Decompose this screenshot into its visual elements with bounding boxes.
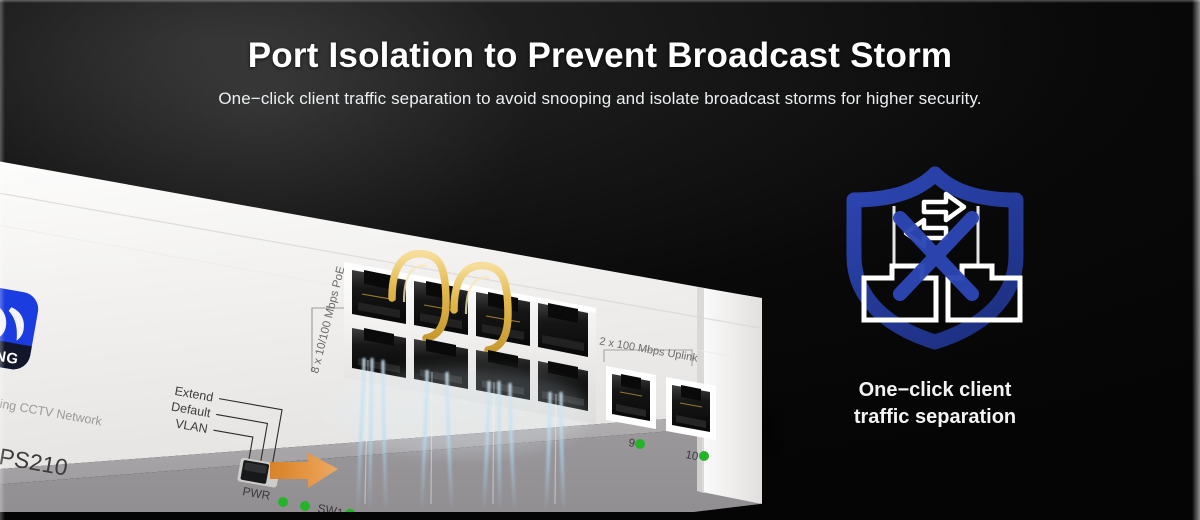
- svg-text:10: 10: [684, 449, 699, 463]
- page-title: Port Isolation to Prevent Broadcast Stor…: [0, 36, 1200, 76]
- top-edge-highlight: [0, 0, 1200, 3]
- feature-block: One−click client traffic separation: [820, 160, 1050, 431]
- shield-port-isolation-icon: [820, 160, 1050, 350]
- pwr-led: [278, 497, 288, 507]
- svg-text:1: 1: [335, 507, 343, 512]
- feature-caption: One−click client traffic separation: [820, 377, 1050, 431]
- switch-vector: WKING Simplifying CCTV Network WK-PS210 …: [0, 112, 820, 512]
- right-edge-highlight: [1192, 0, 1200, 520]
- sw-led: [300, 501, 310, 511]
- arrow-right-icon: [924, 194, 964, 220]
- rj45-port-uplink[interactable]: [606, 366, 656, 429]
- network-switch-illustration: WKING Simplifying CCTV Network WK-PS210 …: [0, 112, 820, 512]
- rj45-port-uplink[interactable]: [666, 377, 716, 440]
- promo-banner: Port Isolation to Prevent Broadcast Stor…: [0, 0, 1200, 520]
- feature-caption-line1: One−click client: [820, 377, 1050, 404]
- page-subtitle: One−click client traffic separation to a…: [0, 89, 1200, 109]
- feature-caption-line2: traffic separation: [820, 404, 1050, 431]
